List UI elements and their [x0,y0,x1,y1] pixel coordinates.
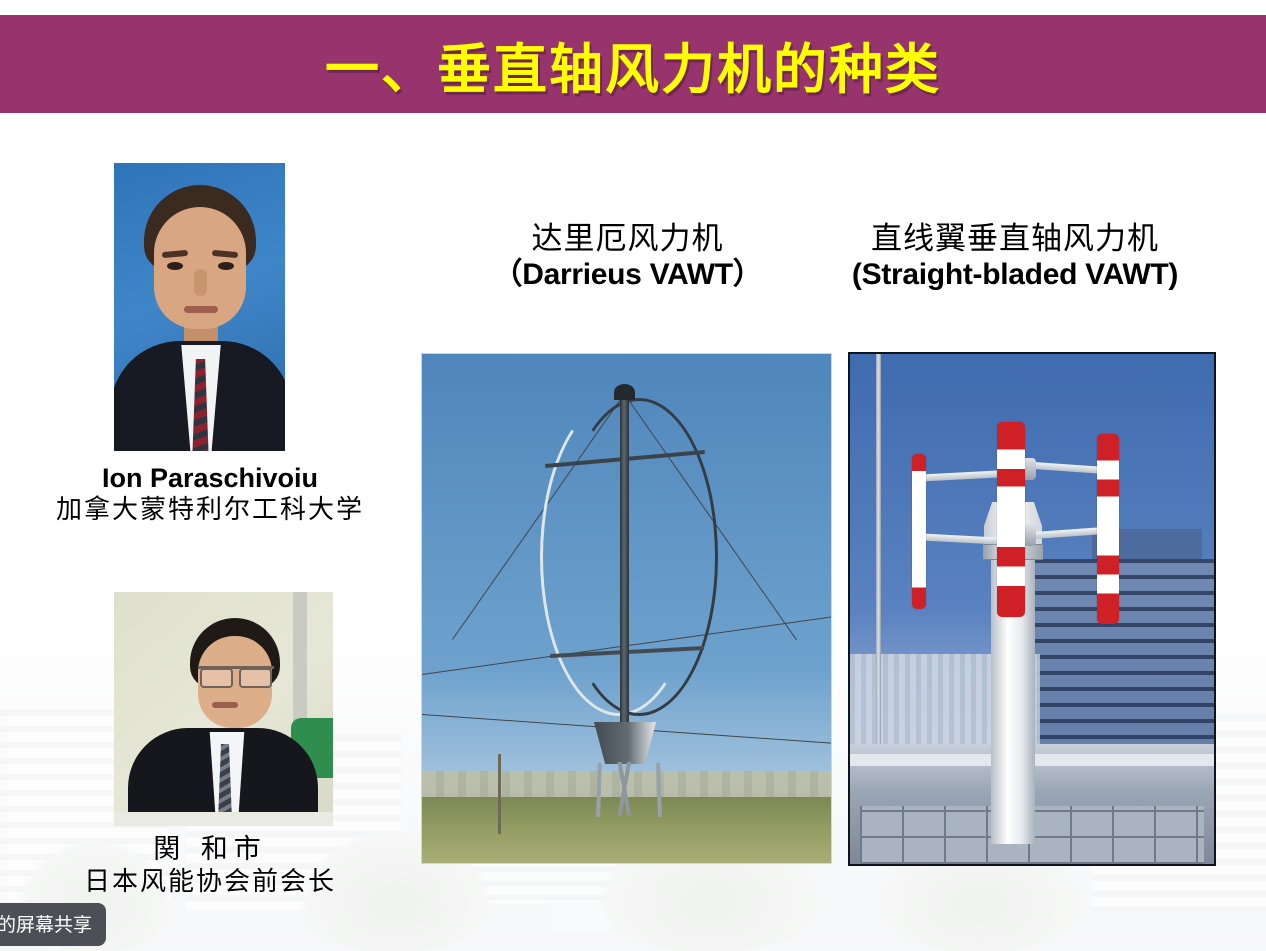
darrieus-blade-right [560,398,718,716]
screen-share-badge: 电的屏幕共享 [0,903,106,946]
heading-straight-cn: 直线翼垂直轴风力机 [795,222,1235,258]
person-affiliation: 日本风能协会前会长 [0,867,420,899]
heading-straight-bladed: 直线翼垂直轴风力机 (Straight-bladed VAWT) [795,222,1235,293]
portrait-eye-left [167,262,183,270]
vawt-blade-center [997,422,1025,617]
page-title: 一、垂直轴风力机的种类 [0,15,1266,113]
caption-seki-kazuichi: 関 和市 日本风能协会前会长 [0,834,420,899]
person-name-en: Ion Paraschivoiu [0,462,420,495]
portrait-mouth [212,702,238,708]
portrait-nose [194,269,207,296]
person-affiliation: 加拿大蒙特利尔工科大学 [0,495,420,527]
darrieus-fence-pole [498,754,501,834]
darrieus-mast [620,394,629,724]
heading-darrieus-en: （Darrieus VAWT） [430,258,825,293]
portrait-photo-ion-paraschivoiu [114,163,285,451]
heading-straight-en: (Straight-bladed VAWT) [795,258,1235,293]
portrait-glasses [198,666,274,686]
portrait-photo-seki-kazuichi [114,592,333,826]
heading-darrieus: 达里厄风力机 （Darrieus VAWT） [430,222,825,293]
portrait-mouth [184,306,218,313]
darrieus-top-cap [614,384,635,400]
portrait-eye-right [218,262,234,270]
presentation-slide: 一、垂直轴风力机的种类 达里厄风力机 （Darrieus VAWT） 直线翼垂直… [0,0,1266,951]
heading-darrieus-cn: 达里厄风力机 [430,222,825,258]
darrieus-nacelle [594,722,656,764]
vawt-blade-right [1097,434,1119,624]
portrait-table [114,812,333,826]
darrieus-vawt-photo [421,353,832,864]
darrieus-lattice-tower [595,762,655,816]
person-name-cn: 関 和市 [0,834,420,867]
vawt-blade-left [912,454,926,609]
flag-pole [876,354,881,784]
caption-ion-paraschivoiu: Ion Paraschivoiu 加拿大蒙特利尔工科大学 [0,462,420,527]
straight-bladed-vawt-photo [848,352,1216,866]
